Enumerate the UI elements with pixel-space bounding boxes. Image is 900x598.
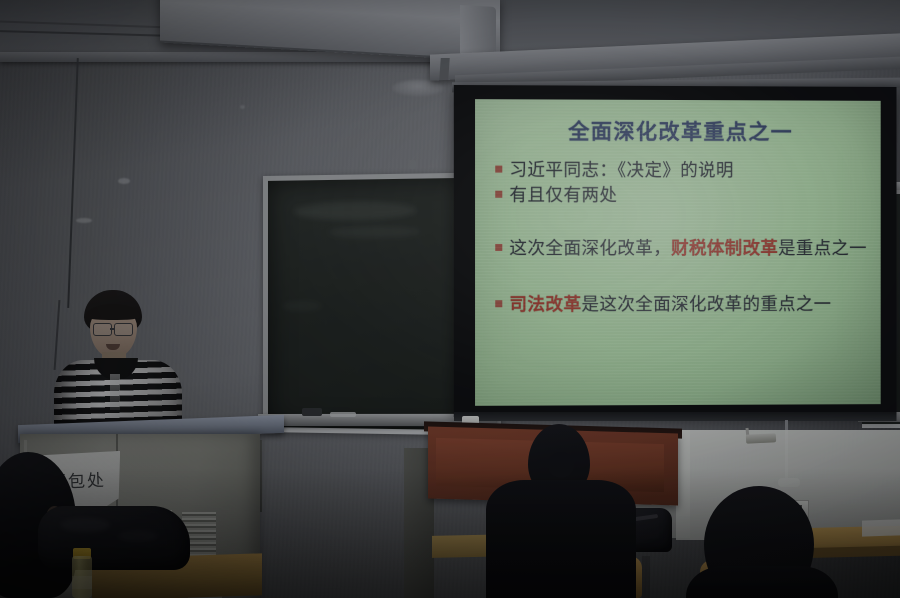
projection-screen: 全面深化改革重点之一 习近平同志：《决定》的说明 有且仅有两处 这次全面深化改革… xyxy=(454,85,897,417)
student-right-torso xyxy=(686,566,838,598)
student-left-hair-bun xyxy=(548,452,574,478)
wall-hook-icon xyxy=(746,433,776,444)
bullet-marker-icon xyxy=(495,191,502,198)
bullet-3-pre: 这次全面深化改革， xyxy=(509,238,671,258)
slide-bullet-4-text: 司法改革是这次全面深化改革的重点之一 xyxy=(509,293,831,316)
bullet-3-post: 是重点之一 xyxy=(778,238,867,258)
jacket-fold-2 xyxy=(118,530,158,542)
paper-sheet xyxy=(862,519,900,536)
slide-bullet-1-text: 习近平同志：《决定》的说明 xyxy=(509,159,733,182)
chalk-smudge xyxy=(294,201,416,221)
chalk-smudge-3 xyxy=(282,301,322,311)
classroom-photo-scene: 全面深化改革重点之一 习近平同志：《决定》的说明 有且仅有两处 这次全面深化改革… xyxy=(0,0,900,598)
slide-bullet-2-text: 有且仅有两处 xyxy=(509,184,617,207)
chalk-smudge-2 xyxy=(328,225,420,238)
glasses-left-lens-icon xyxy=(93,323,112,336)
wall-scuff xyxy=(118,178,130,184)
glasses-right-lens-icon xyxy=(114,323,133,336)
slide-bullet-4: 司法改革是这次全面深化改革的重点之一 xyxy=(493,293,867,316)
blackboard-eraser xyxy=(302,408,322,416)
slide-bullet-1: 习近平同志：《决定》的说明 xyxy=(493,159,867,182)
screen-mount-bracket xyxy=(439,58,450,80)
bullet-3-highlight: 财税体制改革 xyxy=(671,238,778,258)
lecturer-shirt-placket xyxy=(110,374,120,410)
slide-bullet-3: 这次全面深化改革，财税体制改革是重点之一 xyxy=(493,237,867,260)
ceiling-light-fixture xyxy=(392,80,444,96)
bullet-marker-icon xyxy=(495,300,502,307)
jacket-fold xyxy=(60,518,110,532)
bullet-4-highlight: 司法改革 xyxy=(509,294,581,314)
bullet-marker-icon xyxy=(495,244,502,251)
wall-scuff-3 xyxy=(240,105,245,109)
slide-bullet-3-text: 这次全面深化改革，财税体制改革是重点之一 xyxy=(509,237,866,259)
projection-screen-bottom-bar xyxy=(454,412,897,421)
bullet-marker-icon xyxy=(495,166,502,173)
chalkboard-knob xyxy=(409,160,416,169)
student-left-torso xyxy=(486,480,636,598)
presentation-slide: 全面深化改革重点之一 习近平同志：《决定》的说明 有且仅有两处 这次全面深化改革… xyxy=(475,99,881,406)
chair-gap-shadow xyxy=(642,556,650,598)
chalk-stick xyxy=(330,412,356,417)
lecturer xyxy=(38,290,198,440)
slide-bullet-2: 有且仅有两处 xyxy=(493,184,867,207)
slide-title: 全面深化改革重点之一 xyxy=(493,115,867,146)
bullet-4-post: 是这次全面深化改革的重点之一 xyxy=(581,294,831,314)
glasses-bridge-icon xyxy=(110,328,115,330)
projection-screen-surface: 全面深化改革重点之一 习近平同志：《决定》的说明 有且仅有两处 这次全面深化改革… xyxy=(475,99,881,406)
jacket-on-desk xyxy=(38,506,190,570)
wall-scuff-2 xyxy=(76,218,92,223)
bottle-label xyxy=(72,576,92,589)
